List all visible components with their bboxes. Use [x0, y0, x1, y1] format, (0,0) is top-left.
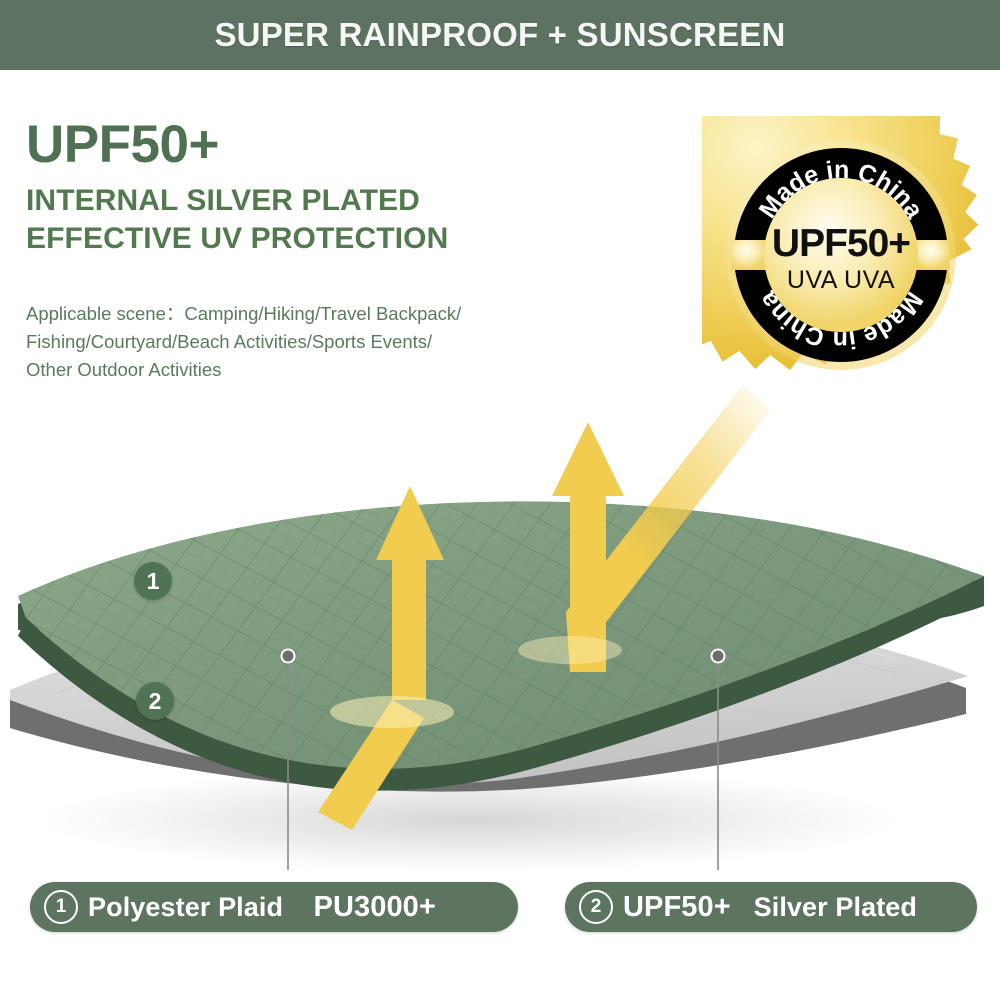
layer-label-1-text: Polyester Plaid PU3000+	[88, 891, 436, 924]
layer-label-1-strong: PU3000+	[314, 891, 436, 923]
headline-upf-rating: UPF50+	[26, 118, 586, 172]
uv-glow-left	[330, 696, 454, 728]
infographic-page: SUPER RAINPROOF + SUNSCREEN UPF50+ INTER…	[0, 0, 1000, 1000]
headline-block: UPF50+ INTERNAL SILVER PLATED EFFECTIVE …	[26, 118, 586, 259]
badge-ring-gap-left	[732, 240, 766, 270]
layer-label-1-main: Polyester Plaid	[88, 892, 283, 922]
headline-subtitle-line-1: INTERNAL SILVER PLATED	[26, 182, 586, 220]
layer-bullet-1: 1	[134, 562, 172, 600]
layer-label-1-number: 1	[44, 890, 78, 924]
layer-label-2-strong: Silver Plated	[754, 892, 917, 922]
uv-glow-right	[518, 636, 622, 664]
layer-label-2-number: 2	[579, 890, 613, 924]
badge-ring-gap-right	[916, 240, 950, 270]
layer-label-2: 2 UPF50+ Silver Plated	[565, 882, 977, 932]
layer-bullet-2: 2	[136, 682, 174, 720]
layer-label-1: 1 Polyester Plaid PU3000+	[30, 882, 518, 932]
header-title: SUPER RAINPROOF + SUNSCREEN	[214, 16, 785, 54]
header-banner: SUPER RAINPROOF + SUNSCREEN	[0, 0, 1000, 70]
layer-label-2-main: UPF50+	[623, 891, 731, 923]
layer-label-2-text: UPF50+ Silver Plated	[623, 891, 917, 924]
headline-subtitle-line-2: EFFECTIVE UV PROTECTION	[26, 220, 586, 258]
